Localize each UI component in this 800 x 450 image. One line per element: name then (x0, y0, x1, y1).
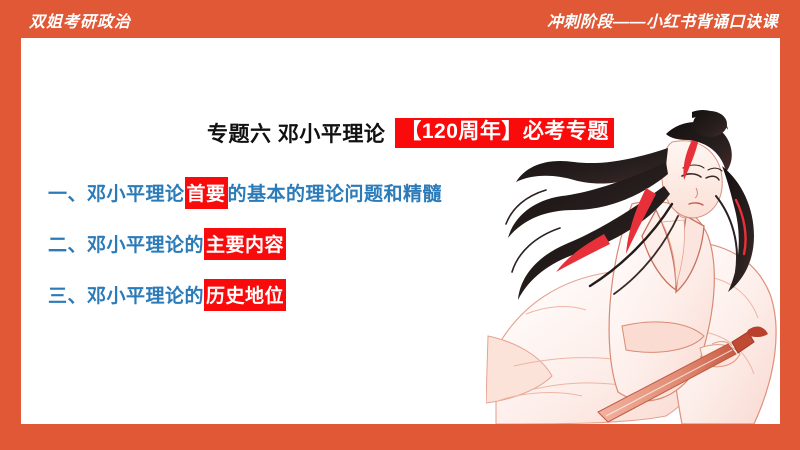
presentation-slide: 双姐考研政治 冲刺阶段——小红书背诵口诀课 专题六 邓小平理论 【120周年】必… (0, 0, 800, 450)
list-item: 三、邓小平理论的 历史地位 (48, 269, 442, 320)
slide-content-panel: 专题六 邓小平理论 【120周年】必考专题 一、邓小平理论 首要 的基本的理论问… (21, 38, 780, 424)
page-title: 专题六 邓小平理论 (207, 118, 385, 148)
outline-item-2-prefix: 二、邓小平理论的 (48, 230, 204, 257)
outline-item-3-prefix: 三、邓小平理论的 (48, 281, 204, 308)
outline-item-1-suffix: 的基本的理论问题和精髓 (228, 179, 443, 206)
header-course-subtitle: 冲刺阶段——小红书背诵口诀课 (547, 8, 778, 32)
swordswoman-illustration (486, 104, 780, 424)
header-course-brand: 双姐考研政治 (29, 8, 131, 32)
exam-focus-badge: 【120周年】必考专题 (395, 118, 614, 147)
outline-item-2-highlight: 主要内容 (204, 228, 286, 260)
outline-item-1-highlight: 首要 (185, 177, 228, 209)
outline-list: 一、邓小平理论 首要 的基本的理论问题和精髓 二、邓小平理论的 主要内容 三、邓… (48, 167, 442, 320)
outline-item-3-highlight: 历史地位 (204, 279, 286, 311)
slide-title: 专题六 邓小平理论 【120周年】必考专题 (207, 118, 614, 148)
list-item: 二、邓小平理论的 主要内容 (48, 218, 442, 269)
outline-item-1-prefix: 一、邓小平理论 (48, 179, 185, 206)
list-item: 一、邓小平理论 首要 的基本的理论问题和精髓 (48, 167, 442, 218)
slide-header-band: 双姐考研政治 冲刺阶段——小红书背诵口诀课 (0, 0, 800, 38)
